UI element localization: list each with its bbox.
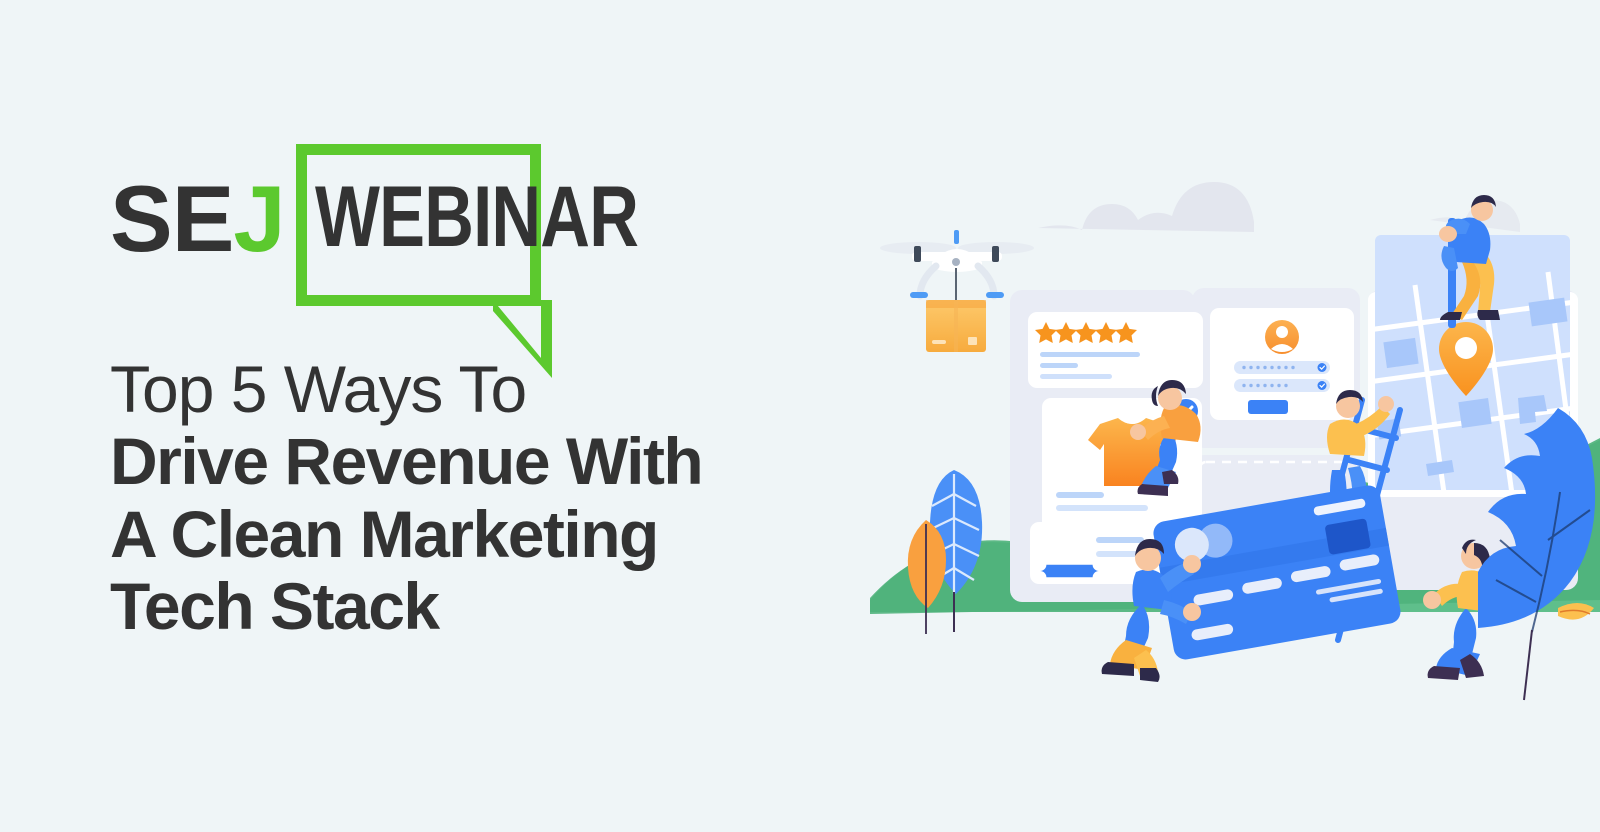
- logo-webinar-text: WEBINAR: [315, 174, 638, 260]
- logo-j-text: J: [233, 166, 284, 271]
- sej-webinar-logo: SEJ WEBINAR: [110, 130, 600, 330]
- illustration: %: [870, 0, 1600, 832]
- field-check-icon-1: [1318, 363, 1327, 372]
- webinar-banner: SEJ WEBINAR Top 5 Ways To Drive Revenue …: [0, 0, 1600, 832]
- review-text-line-2: [1040, 363, 1078, 368]
- coupon-text-line-1: [1096, 537, 1144, 543]
- logo-se-text: SE: [110, 166, 233, 271]
- headline-line-1: Top 5 Ways To: [110, 354, 810, 425]
- login-card: [1210, 308, 1354, 420]
- headline-block: Top 5 Ways To Drive Revenue With A Clean…: [110, 354, 810, 643]
- review-text-line-3: [1040, 374, 1112, 379]
- login-submit-button: [1248, 400, 1288, 414]
- review-text-line-1: [1040, 352, 1140, 357]
- logo-sej-wordmark: SEJ: [110, 172, 285, 266]
- field-check-icon-2: [1318, 381, 1327, 390]
- coupon-tag-icon: [1040, 565, 1099, 578]
- text-column: SEJ WEBINAR Top 5 Ways To Drive Revenue …: [110, 130, 810, 643]
- percent-symbol: %: [1058, 538, 1073, 557]
- headline-line-2: Drive Revenue With: [110, 425, 810, 498]
- headline-line-3: A Clean Marketing: [110, 498, 810, 571]
- headline-line-4: Tech Stack: [110, 570, 810, 643]
- product-text-line-2: [1056, 505, 1148, 511]
- password-field-1: [1234, 361, 1330, 374]
- password-field-2: [1234, 379, 1330, 392]
- review-card: [1028, 312, 1203, 388]
- product-text-line-1: [1056, 492, 1104, 498]
